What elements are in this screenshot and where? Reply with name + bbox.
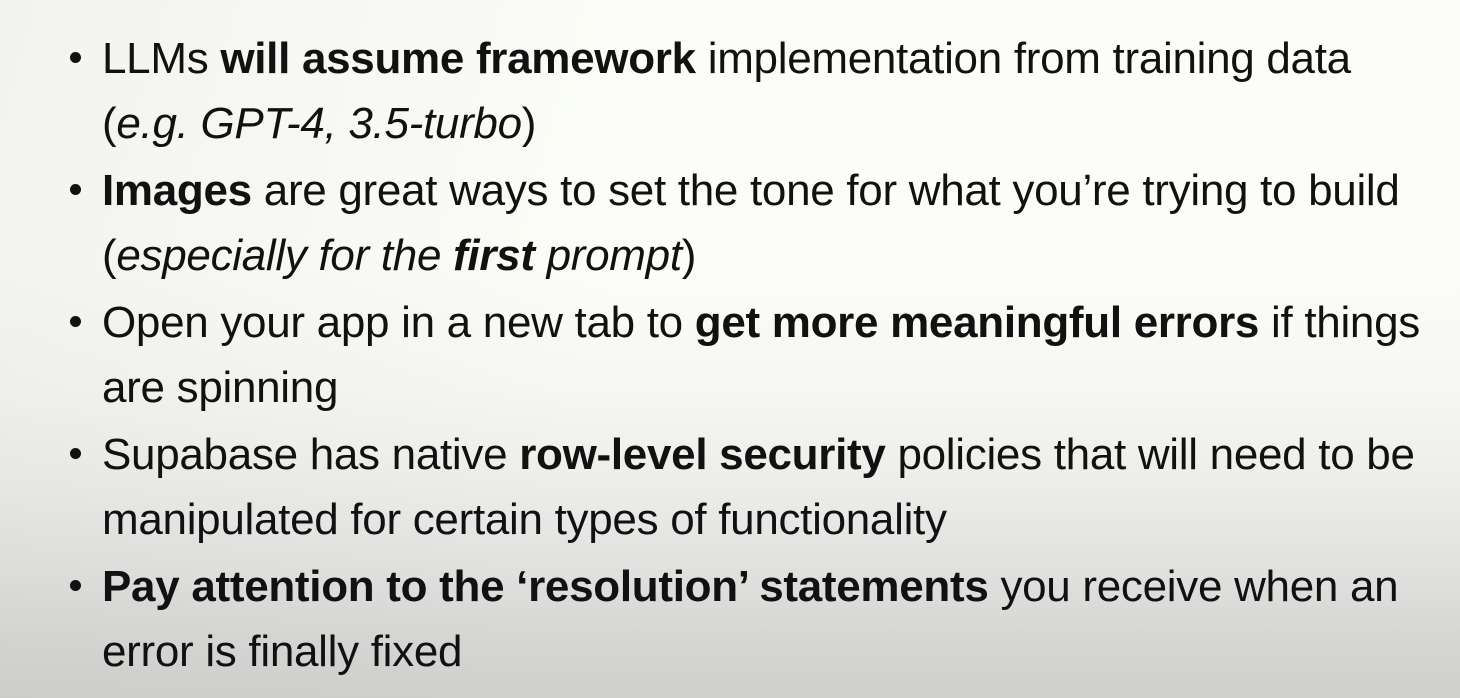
bullet-text: Open your app in a new tab to get more m… — [102, 290, 1442, 420]
bullet-dot-icon — [70, 184, 81, 195]
bullet-item: Pay attention to the ‘resolution’ statem… — [62, 554, 1442, 684]
bullet-item: LLMs will assume framework implementatio… — [62, 26, 1442, 156]
text-run-italic: especially for the — [116, 231, 453, 280]
slide-canvas: LLMs will assume framework implementatio… — [0, 0, 1460, 698]
text-run-bold-italic: first — [453, 231, 535, 280]
text-run-regular: ) — [522, 99, 536, 148]
text-run-regular: Supabase has native — [102, 430, 519, 479]
bullet-dot-icon — [70, 448, 81, 459]
bullet-item: Images are great ways to set the tone fo… — [62, 158, 1442, 288]
bullet-dot-icon — [70, 52, 81, 63]
bullet-text: Pay attention to the ‘resolution’ statem… — [102, 554, 1442, 684]
bullet-list: LLMs will assume framework implementatio… — [0, 0, 1460, 684]
text-run-bold: row-level security — [519, 430, 885, 479]
text-run-bold: get more meaningful errors — [695, 298, 1259, 347]
bullet-item: Open your app in a new tab to get more m… — [62, 290, 1442, 420]
text-run-bold: Pay attention to the ‘resolution’ statem… — [102, 562, 989, 611]
text-run-italic: e.g. GPT-4, 3.5-turbo — [116, 99, 521, 148]
bullet-item: Supabase has native row-level security p… — [62, 422, 1442, 552]
bullet-text: Supabase has native row-level security p… — [102, 422, 1442, 552]
text-run-regular: LLMs — [102, 34, 220, 83]
text-run-italic: prompt — [535, 231, 682, 280]
text-run-bold: Images — [102, 166, 252, 215]
text-run-bold: will assume framework — [220, 34, 695, 83]
text-run-regular: ) — [682, 231, 696, 280]
bullet-dot-icon — [70, 580, 81, 591]
bullet-text: Images are great ways to set the tone fo… — [102, 158, 1442, 288]
text-run-regular: Open your app in a new tab to — [102, 298, 695, 347]
bullet-dot-icon — [70, 316, 81, 327]
bullet-text: LLMs will assume framework implementatio… — [102, 26, 1442, 156]
